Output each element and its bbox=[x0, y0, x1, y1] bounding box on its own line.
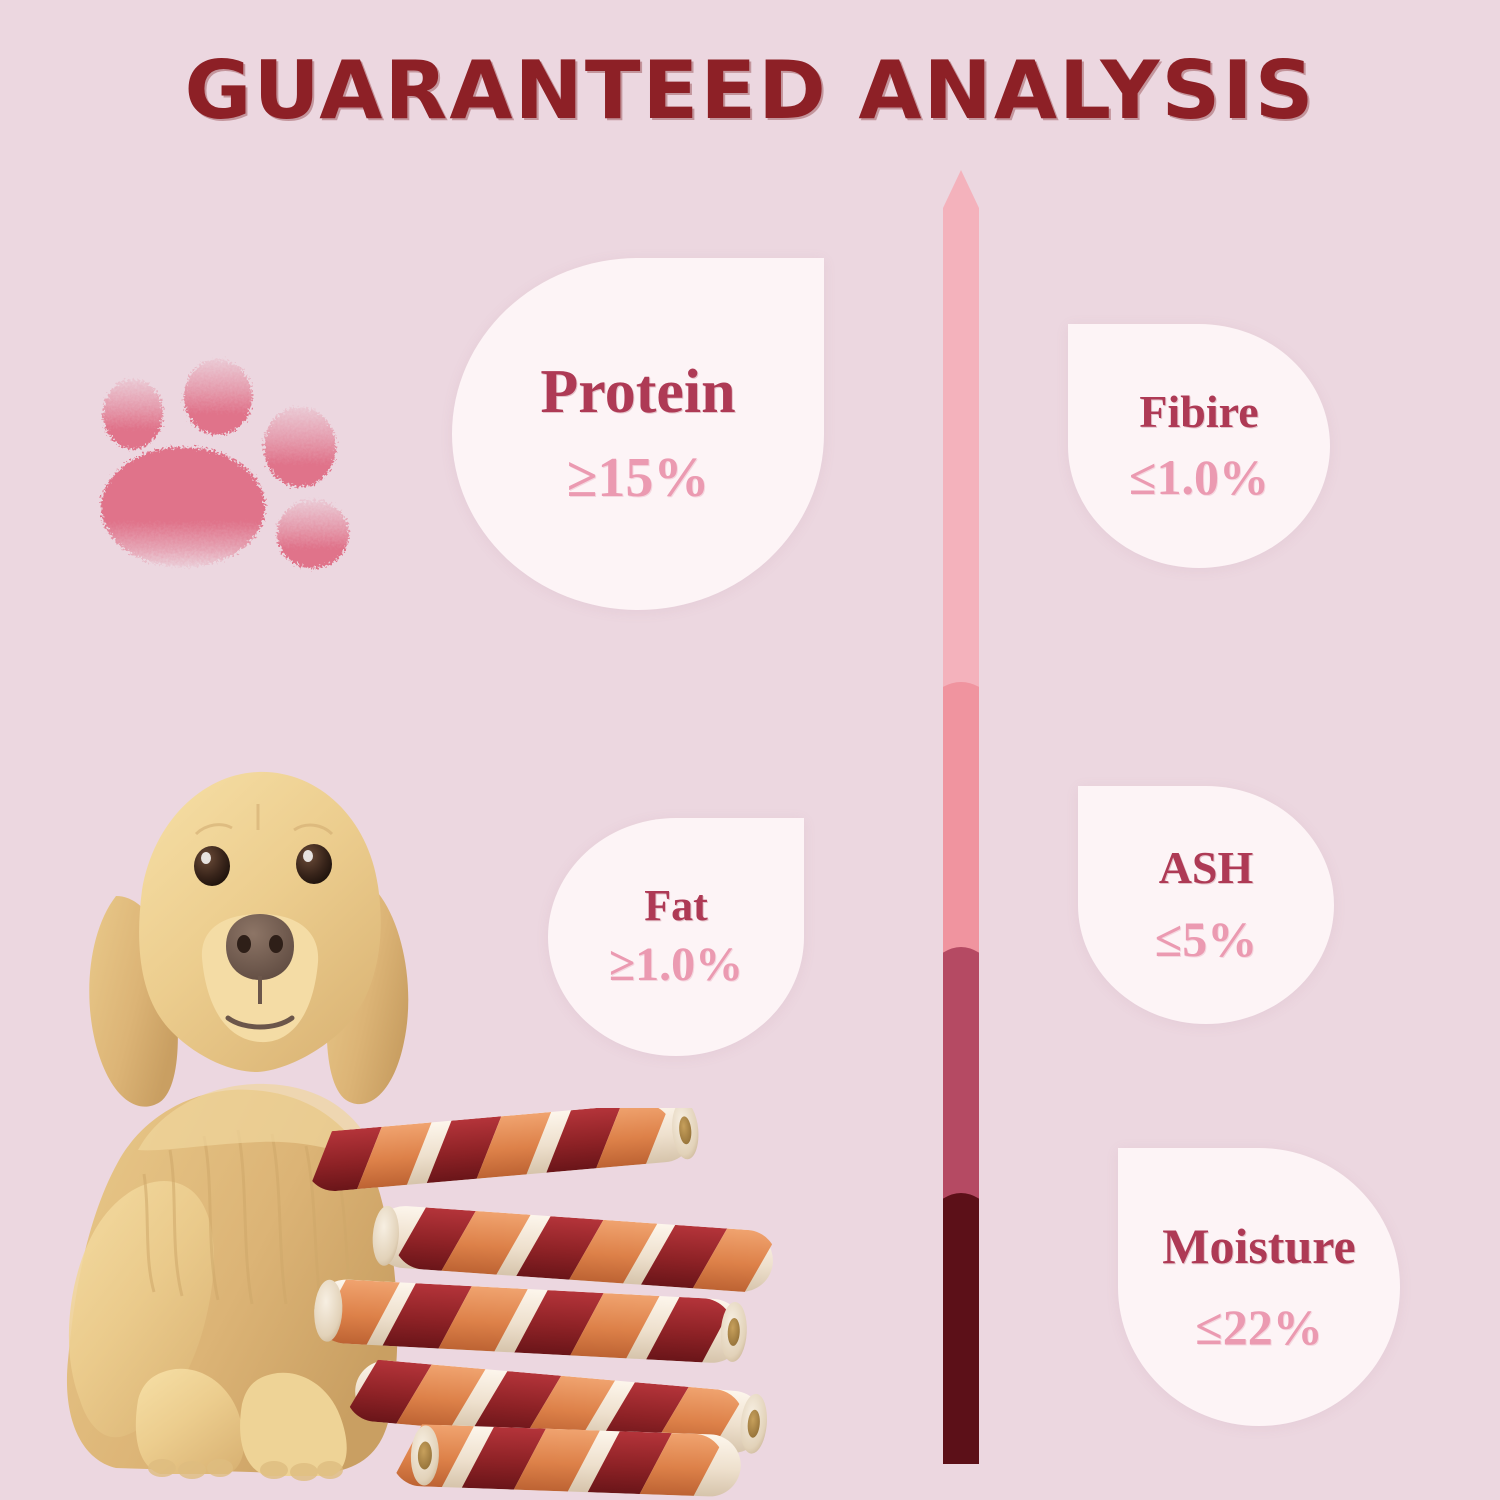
badge-fat-value: ≥1.0% bbox=[609, 941, 743, 990]
badge-protein-label: Protein bbox=[540, 361, 735, 424]
wrapped-rawhide-treats bbox=[292, 1108, 872, 1500]
badge-fibire[interactable]: Fibire ≤1.0% bbox=[1068, 324, 1330, 568]
badge-protein[interactable]: Protein ≥15% bbox=[452, 258, 824, 610]
badge-ash[interactable]: ASH ≤5% bbox=[1078, 786, 1334, 1024]
badge-moisture[interactable]: Moisture ≤22% bbox=[1118, 1148, 1400, 1426]
badge-ash-label: ASH bbox=[1159, 845, 1254, 892]
badge-fibire-value: ≤1.0% bbox=[1129, 452, 1269, 503]
poster-canvas: GUARANTEED ANALYSIS bbox=[0, 0, 1500, 1500]
page-title: GUARANTEED ANALYSIS bbox=[0, 44, 1500, 137]
paw-print-icon bbox=[78, 342, 368, 622]
gradient-arrow-icon bbox=[941, 168, 981, 1468]
badge-moisture-label: Moisture bbox=[1162, 1221, 1355, 1272]
badge-moisture-value: ≤22% bbox=[1195, 1302, 1322, 1353]
badge-fibire-label: Fibire bbox=[1139, 389, 1258, 436]
badge-fat-label: Fat bbox=[644, 884, 708, 929]
badge-ash-value: ≤5% bbox=[1155, 914, 1257, 965]
badge-fat[interactable]: Fat ≥1.0% bbox=[548, 818, 804, 1056]
badge-protein-value: ≥15% bbox=[567, 450, 710, 507]
